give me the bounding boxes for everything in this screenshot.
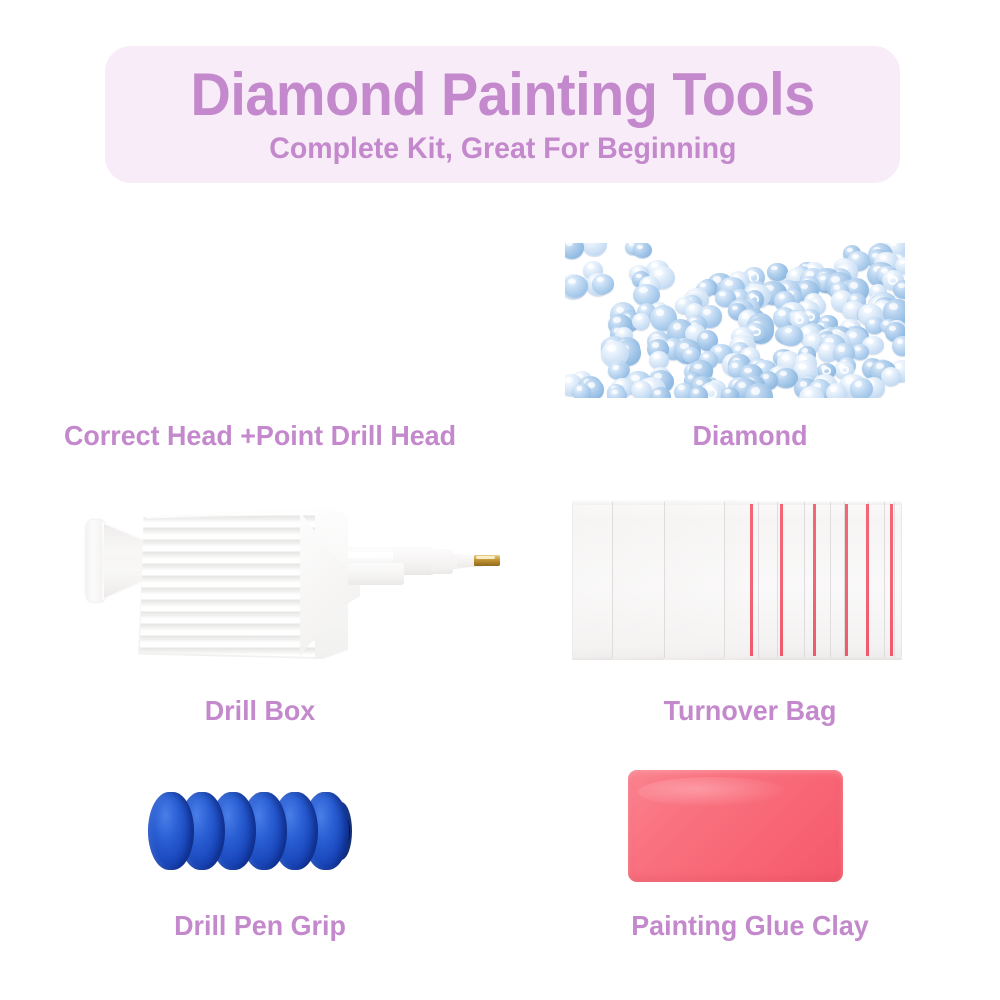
grip-segment	[148, 792, 194, 870]
bag-zip-seal	[813, 504, 816, 656]
diamond-drill	[767, 263, 788, 280]
diamond-drill	[850, 378, 873, 398]
item-drill-pen-grip: Drill Pen Grip	[20, 765, 500, 960]
glue-clay-illustration	[628, 770, 843, 882]
bag-fold-line	[664, 502, 665, 658]
diamond-drill	[608, 363, 627, 379]
diamond-drill	[826, 383, 847, 398]
diamond-drill	[881, 367, 901, 386]
bag-panel	[664, 500, 724, 660]
item-label-painting-glue-clay: Painting Glue Clay	[529, 910, 971, 942]
bag-fold-line	[758, 502, 759, 658]
bag-fold-line	[884, 502, 885, 658]
clay-sheen	[638, 777, 788, 807]
diamond-drill	[572, 384, 590, 398]
tray-handle	[348, 563, 404, 585]
diamond-drill	[582, 243, 608, 256]
diamond-drill-pile	[565, 243, 905, 398]
header-banner: Diamond Painting Tools Complete Kit, Gre…	[105, 46, 900, 183]
drill-tray-illustration	[130, 495, 410, 670]
pen-grip-illustration	[148, 786, 358, 881]
bag-fold-line	[894, 502, 895, 658]
item-label-drill-pen-grip: Drill Pen Grip	[30, 910, 491, 942]
diamond-drill	[565, 243, 584, 259]
bag-fold-line	[612, 502, 613, 658]
item-label-turnover-bag: Turnover Bag	[529, 695, 971, 727]
product-infographic: Diamond Painting Tools Complete Kit, Gre…	[0, 0, 1000, 1000]
diamond-drill	[893, 280, 905, 299]
item-drill-pen: Correct Head +Point Drill Head	[20, 240, 500, 455]
bag-panel	[572, 500, 612, 660]
tray-grooves	[140, 511, 315, 657]
bag-fold-line	[724, 502, 725, 658]
diamond-drill	[632, 313, 651, 330]
bag-zip-seal	[845, 504, 848, 656]
diamond-drill	[892, 336, 905, 356]
page-subtitle: Complete Kit, Great For Beginning	[269, 132, 736, 165]
diamond-drill	[565, 275, 588, 296]
item-label-drill-box: Drill Box	[30, 695, 491, 727]
turnover-bag-illustration	[572, 500, 902, 660]
diamond-drill	[779, 325, 803, 346]
item-diamond: Diamond	[520, 240, 980, 455]
item-painting-glue-clay: Painting Glue Clay	[520, 765, 980, 960]
item-turnover-bag: Turnover Bag	[520, 480, 980, 735]
bag-fold-line	[804, 502, 805, 658]
bag-zip-seal	[780, 504, 783, 656]
page-title: Diamond Painting Tools	[190, 63, 814, 126]
bag-fold-line	[830, 502, 831, 658]
item-label-diamond: Diamond	[529, 420, 971, 452]
bag-zip-seal	[750, 504, 753, 656]
diamond-drill	[633, 243, 652, 258]
bag-zip-seal	[866, 504, 869, 656]
diamond-drill	[607, 387, 627, 398]
diamond-drill	[592, 274, 615, 294]
item-label-drill-pen: Correct Head +Point Drill Head	[30, 420, 491, 452]
bag-fold-line	[777, 502, 778, 658]
bag-zip-seal	[890, 504, 893, 656]
item-drill-box: Drill Box	[20, 480, 500, 735]
bag-panel	[612, 500, 664, 660]
